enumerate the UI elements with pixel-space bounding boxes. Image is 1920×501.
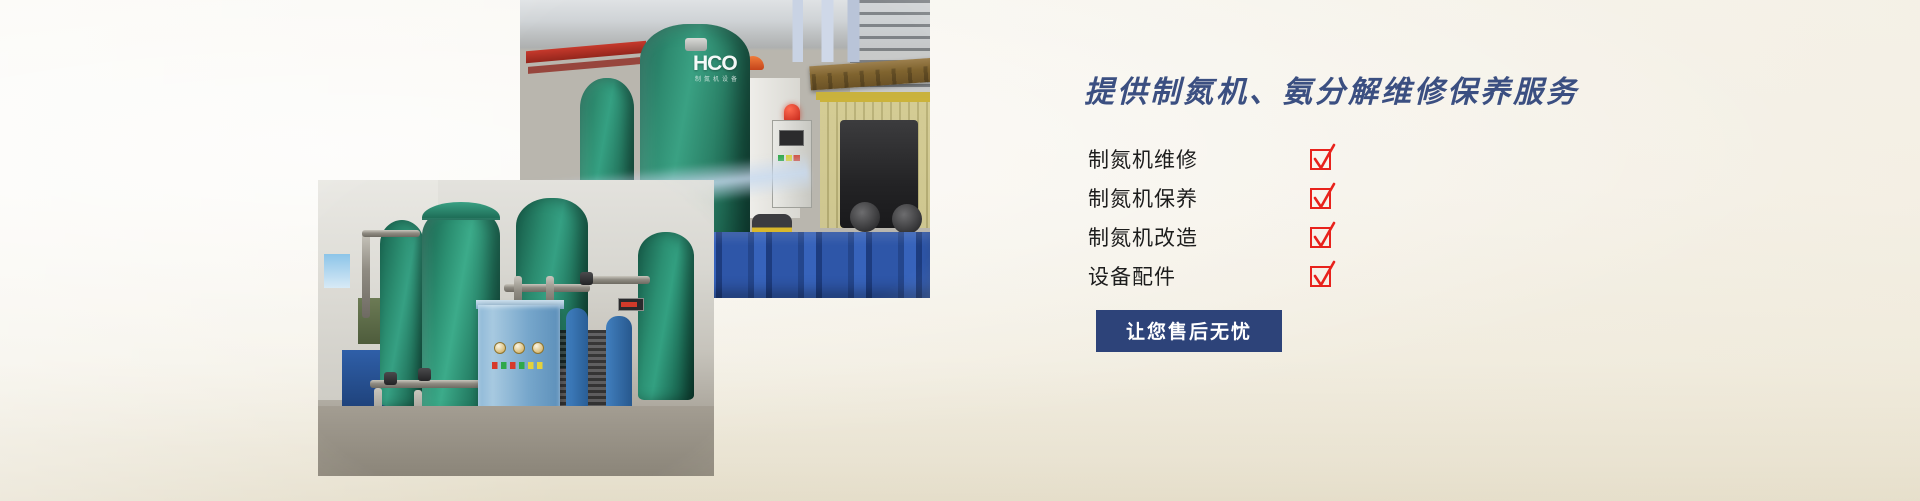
checkbox-checked-icon[interactable]: [1310, 227, 1331, 248]
service-label: 设备配件: [1088, 261, 1278, 291]
checkbox-checked-icon[interactable]: [1310, 266, 1331, 287]
pressure-gauge-2: [513, 342, 525, 354]
service-list: 制氮机维修 制氮机保养 制氮机改造: [1088, 140, 1608, 296]
banner-content: 提供制氮机、氨分解维修保养服务 制氮机维修 制氮机保养: [1088, 74, 1608, 352]
alarm-beacon-light: [784, 104, 800, 121]
pipe-vertical-left: [362, 232, 370, 318]
pressure-gauge-3: [532, 342, 544, 354]
forklift-wheel-rear: [850, 202, 880, 232]
factory-floor: [318, 406, 714, 476]
blue-filter-column-1: [566, 308, 588, 416]
photo-nitrogen-plant-scene: [318, 180, 714, 476]
valve-3: [580, 272, 593, 285]
list-item: 设备配件: [1088, 257, 1608, 296]
cabinet-display: [779, 130, 804, 146]
pipe-crossover-right: [588, 276, 650, 284]
service-banner: HCO 制氮机设备: [0, 0, 1920, 501]
worker-legs: [788, 0, 864, 62]
service-label: 制氮机改造: [1088, 222, 1278, 252]
service-label: 制氮机维修: [1088, 144, 1278, 174]
pressure-gauges: [494, 342, 544, 356]
pressure-gauge-1: [494, 342, 506, 354]
valve-1: [384, 372, 397, 385]
checkbox-checked-icon[interactable]: [1310, 149, 1331, 170]
photo-nitrogen-plant: [318, 180, 714, 476]
digital-meter: [618, 298, 644, 311]
tank-flange: [685, 38, 707, 51]
wall-poster: [324, 254, 350, 288]
tank-brand-logo: HCO: [693, 52, 737, 76]
cta-button[interactable]: 让您售后无忧: [1096, 310, 1282, 352]
page-title: 提供制氮机、氨分解维修保养服务: [1084, 74, 1608, 112]
indicator-lamps: [492, 362, 548, 369]
service-label: 制氮机保养: [1088, 183, 1278, 213]
list-item: 制氮机改造: [1088, 218, 1608, 257]
tank-brand-subtitle: 制氮机设备: [695, 74, 740, 83]
green-vessel-right: [638, 232, 694, 400]
forklift-wheel-front: [892, 204, 922, 234]
pipe-horizontal-top: [362, 230, 420, 237]
checkbox-checked-icon[interactable]: [1310, 188, 1331, 209]
valve-2: [418, 368, 431, 381]
list-item: 制氮机保养: [1088, 179, 1608, 218]
list-item: 制氮机维修: [1088, 140, 1608, 179]
